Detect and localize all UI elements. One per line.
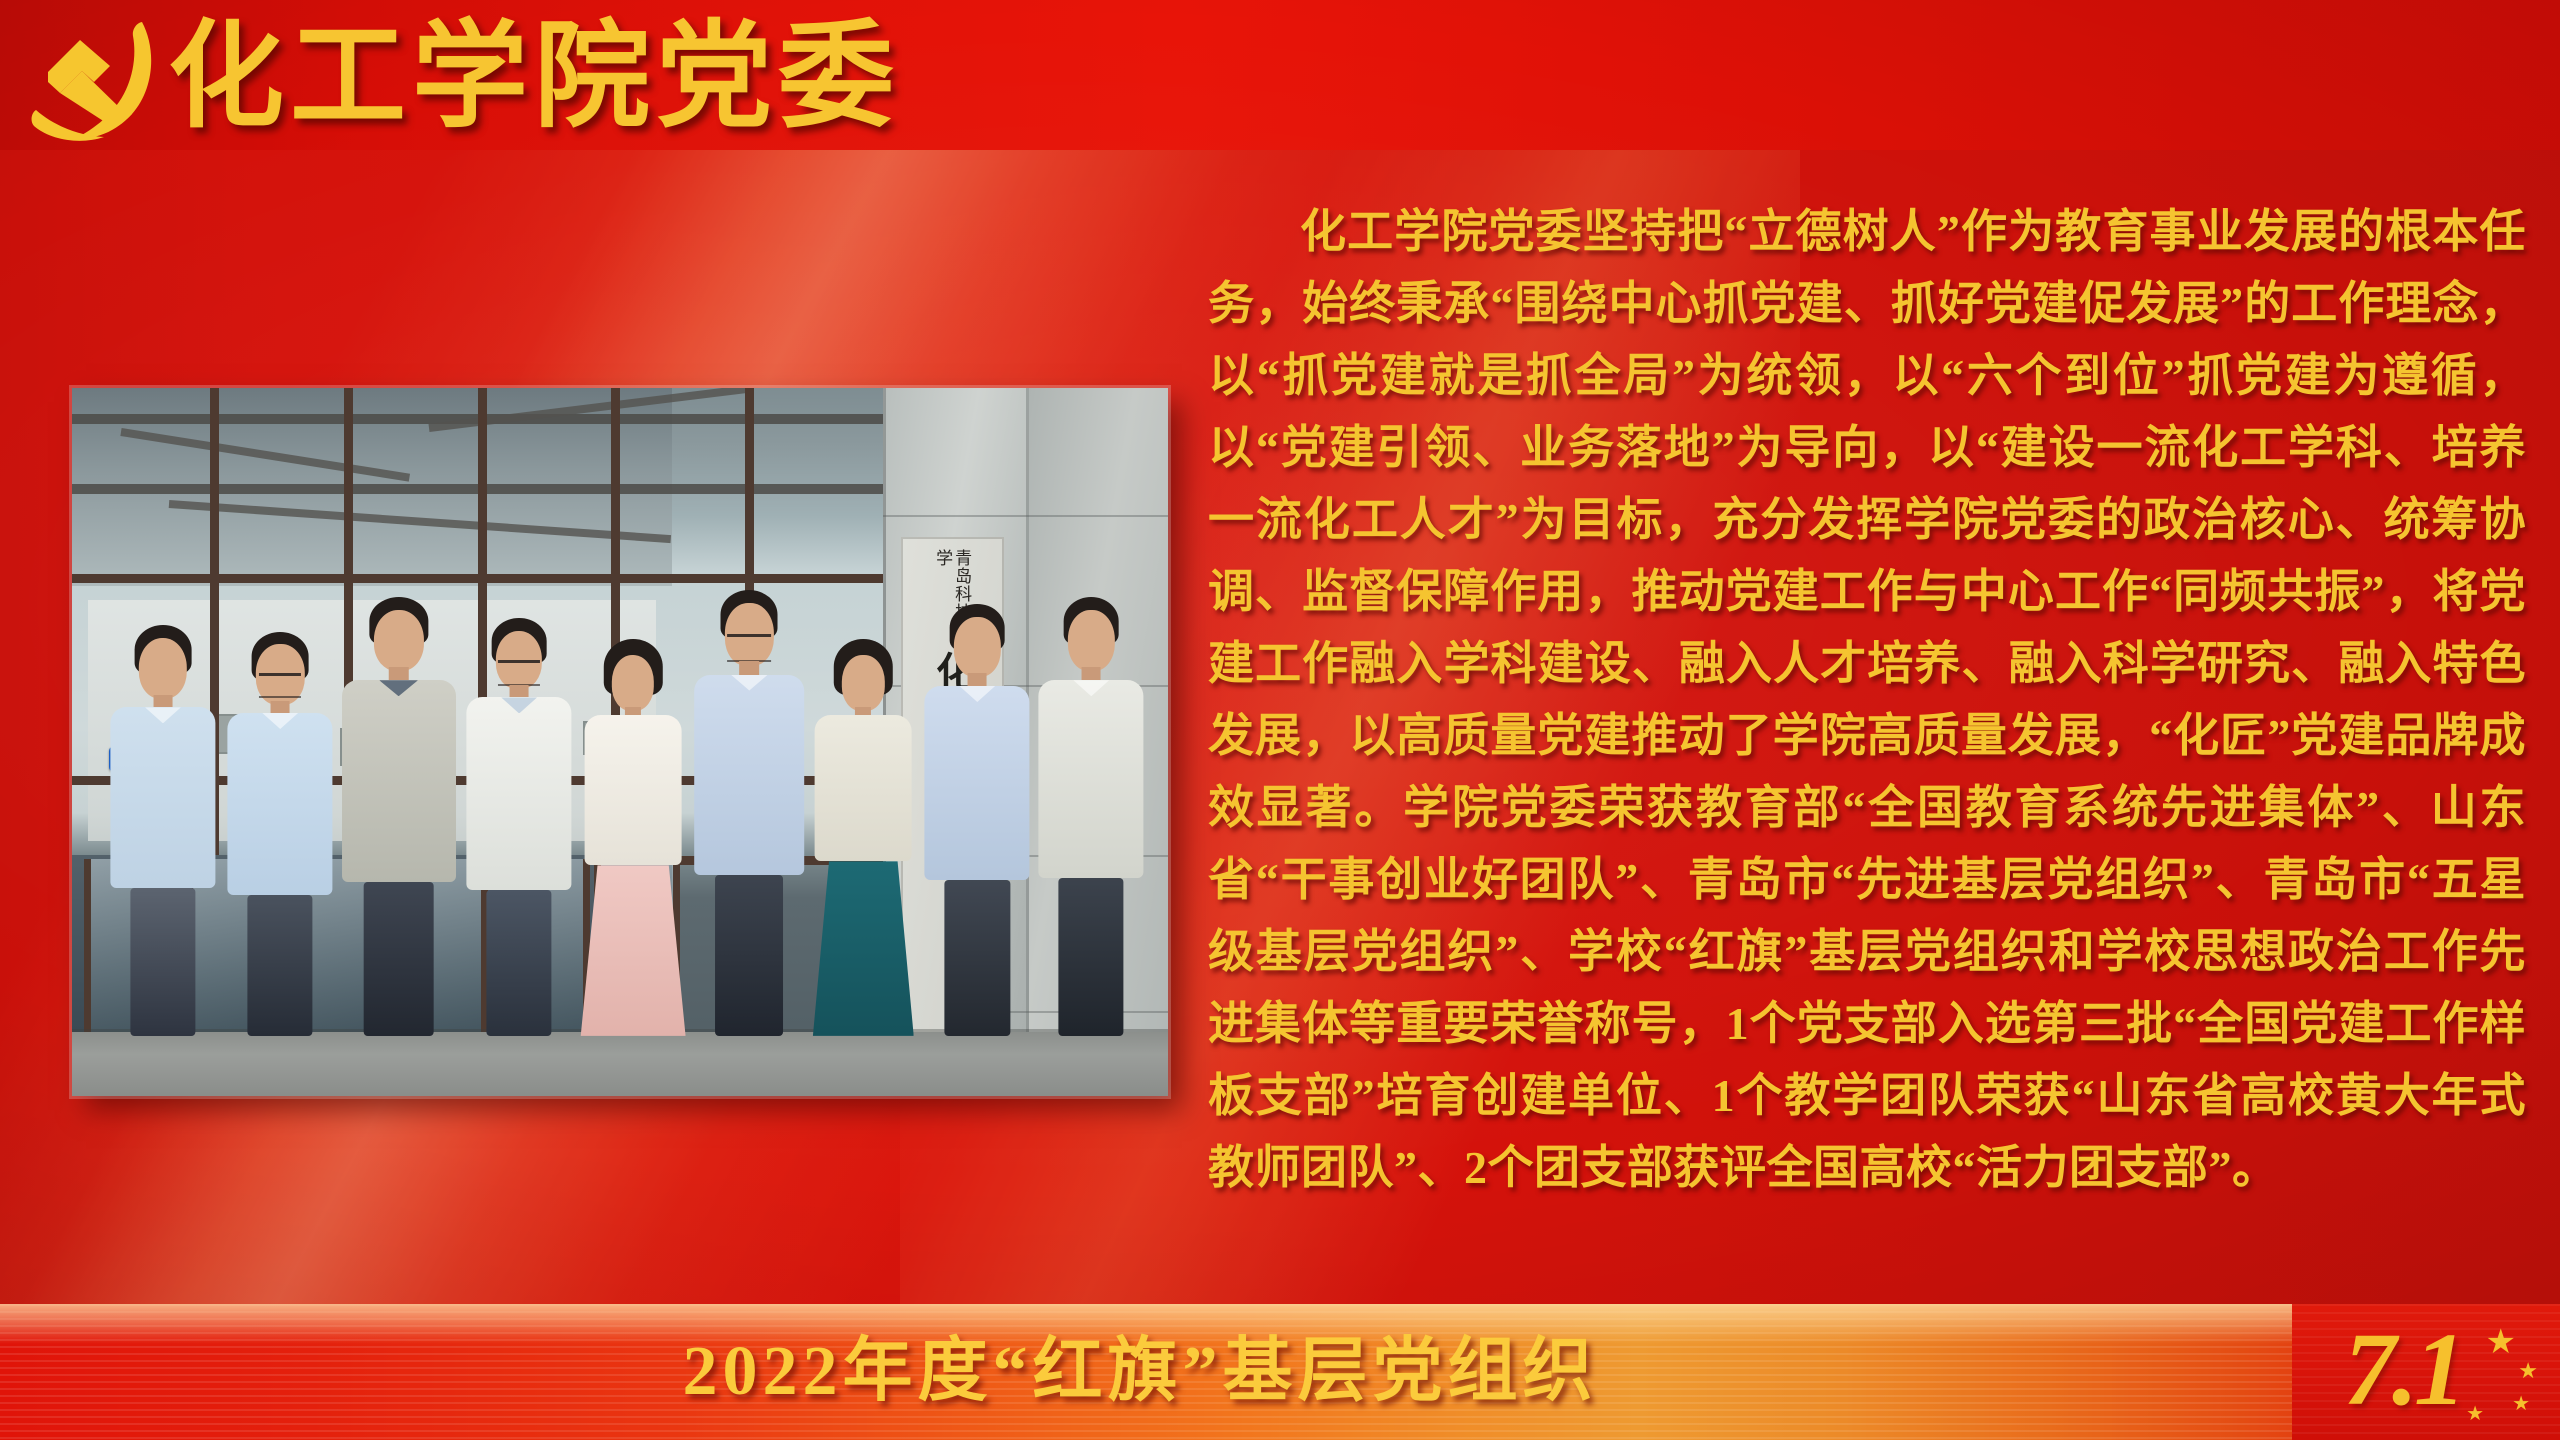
person-figure <box>110 625 215 1036</box>
person-figure <box>813 639 914 1035</box>
person-figure <box>342 597 456 1036</box>
star-icon: ★ <box>2518 1360 2538 1382</box>
group-photo: 青岛科技大学 化工学院 <box>72 388 1168 1096</box>
footer-award-title: 2022年度“红旗”基层党组织 <box>0 1326 2560 1418</box>
star-icon: ★ <box>2512 1394 2530 1414</box>
person-figure <box>467 618 572 1036</box>
group-photo-image: 青岛科技大学 化工学院 <box>72 388 1168 1096</box>
person-figure <box>1039 597 1144 1036</box>
footer-banner: 2022年度“红旗”基层党组织 7.1 ★ ★ ★ ★ <box>0 1304 2560 1440</box>
person-figure <box>583 639 684 1035</box>
cpc-party-emblem-icon <box>24 14 164 146</box>
july-first-flag-badge: 7.1 ★ ★ ★ ★ <box>2292 1304 2560 1440</box>
page-title: 化工学院党委 <box>168 16 900 140</box>
person-figure <box>925 604 1030 1036</box>
star-icon: ★ <box>2486 1326 2516 1360</box>
person-figure <box>695 590 805 1036</box>
star-icon: ★ <box>2466 1404 2484 1424</box>
body-paragraph: 化工学院党委坚持把“立德树人”作为教育事业发展的根本任务，始终秉承“围绕中心抓党… <box>1208 196 2526 1204</box>
badge-number: 7.1 <box>2344 1310 2462 1430</box>
person-figure <box>228 632 333 1036</box>
poster-canvas: 化工学院党委 <box>0 0 2560 1440</box>
ground-pavement <box>72 1032 1168 1096</box>
